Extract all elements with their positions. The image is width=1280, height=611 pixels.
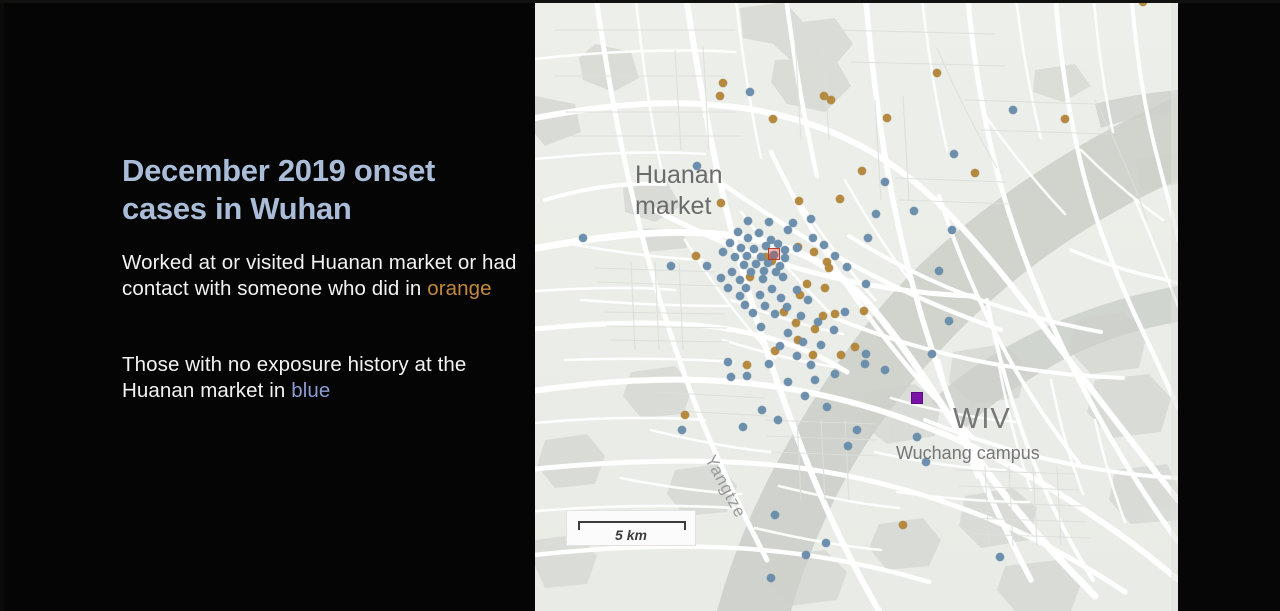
- case-dot-blue: [774, 416, 783, 425]
- slide-root: December 2019 onset cases in Wuhan Worke…: [0, 0, 1280, 611]
- case-dot-orange: [860, 307, 869, 316]
- case-dot-blue: [823, 403, 832, 412]
- case-dot-blue: [910, 207, 919, 216]
- case-dot-orange: [681, 411, 690, 420]
- case-dot-blue: [781, 254, 790, 263]
- wiv-marker[interactable]: [911, 392, 923, 404]
- case-dot-blue: [807, 361, 816, 370]
- case-dot-blue: [724, 284, 733, 293]
- case-dot-orange: [883, 114, 892, 123]
- case-dot-blue: [727, 373, 736, 382]
- map-label-huanan-market: Huanan market: [635, 160, 723, 222]
- case-dot-blue: [678, 426, 687, 435]
- text-panel: December 2019 onset cases in Wuhan Worke…: [0, 0, 535, 611]
- case-dot-orange: [803, 280, 812, 289]
- case-dot-blue: [797, 312, 806, 321]
- case-dot-blue: [864, 234, 873, 243]
- case-dot-blue: [759, 275, 768, 284]
- case-dot-orange: [716, 92, 725, 101]
- map-label-wiv: WIV: [953, 403, 1011, 436]
- case-dot-blue: [784, 329, 793, 338]
- case-dot-orange: [795, 197, 804, 206]
- case-dot-blue: [771, 511, 780, 520]
- case-dot-blue: [757, 323, 766, 332]
- case-dot-blue: [817, 341, 826, 350]
- case-dot-blue: [913, 433, 922, 442]
- case-dot-blue: [830, 326, 839, 335]
- case-dot-blue: [945, 317, 954, 326]
- case-dot-orange: [933, 69, 942, 78]
- case-dot-blue: [843, 263, 852, 272]
- case-dot-blue: [724, 358, 733, 367]
- case-dot-blue: [784, 378, 793, 387]
- scale-bar-label: 5 km: [567, 527, 695, 543]
- case-dot-blue: [862, 280, 871, 289]
- case-dot-blue: [746, 88, 755, 97]
- case-dot-orange: [851, 343, 860, 352]
- case-dot-blue: [749, 309, 758, 318]
- case-dot-blue: [756, 291, 765, 300]
- case-dot-blue: [948, 226, 957, 235]
- case-dot-blue: [928, 350, 937, 359]
- case-dot-blue: [750, 245, 759, 254]
- case-dot-blue: [809, 234, 818, 243]
- case-dot-blue: [731, 253, 740, 262]
- case-dot-blue: [831, 370, 840, 379]
- case-dot-orange: [692, 252, 701, 261]
- case-dot-blue: [841, 308, 850, 317]
- left-letterbox: [0, 0, 4, 611]
- case-dot-blue: [765, 360, 774, 369]
- huanan-market-marker[interactable]: [768, 248, 780, 260]
- case-dot-blue: [881, 366, 890, 375]
- page-title: December 2019 onset cases in Wuhan: [122, 152, 522, 228]
- case-dot-blue: [771, 310, 780, 319]
- case-dot-blue: [950, 150, 959, 159]
- right-letterbox: [1178, 0, 1280, 611]
- case-dot-blue: [717, 274, 726, 283]
- case-dot-orange: [809, 351, 818, 360]
- case-dot-orange: [836, 195, 845, 204]
- map-label-huanan-line2: market: [635, 191, 723, 222]
- case-dot-blue: [777, 294, 786, 303]
- case-dot-blue: [741, 301, 750, 310]
- case-dot-blue: [793, 352, 802, 361]
- case-dot-orange: [837, 351, 846, 360]
- case-dot-blue: [747, 268, 756, 277]
- legend-paragraph-blue: Those with no exposure history at the Hu…: [122, 352, 532, 403]
- case-dot-blue: [783, 303, 792, 312]
- case-dot-blue: [767, 574, 776, 583]
- map-scale-bar: 5 km: [566, 510, 696, 546]
- case-dot-orange: [827, 96, 836, 105]
- case-dot-blue: [853, 426, 862, 435]
- case-dot-blue: [776, 342, 785, 351]
- map-label-huanan-line1: Huanan: [635, 160, 723, 191]
- case-dot-blue: [781, 246, 790, 255]
- legend-blue-keyword: blue: [291, 379, 330, 402]
- case-dot-orange: [1061, 115, 1070, 124]
- case-dot-blue: [743, 252, 752, 261]
- case-dot-orange: [743, 361, 752, 370]
- case-dot-blue: [719, 248, 728, 257]
- case-dot-blue: [831, 252, 840, 261]
- case-dot-blue: [760, 267, 769, 276]
- case-dot-orange: [792, 319, 801, 328]
- case-dot-orange: [831, 310, 840, 319]
- map-panel[interactable]: Huanan market WIV Wuchang campus Yangtze…: [535, 0, 1178, 611]
- case-dot-blue: [784, 226, 793, 235]
- case-dot-blue: [761, 302, 770, 311]
- case-dot-orange: [769, 115, 778, 124]
- case-dot-blue: [779, 273, 788, 282]
- legend-orange-keyword: orange: [427, 277, 491, 300]
- case-dot-orange: [810, 248, 819, 257]
- case-dot-blue: [737, 244, 746, 253]
- case-dot-blue: [1009, 106, 1018, 115]
- case-dot-blue: [799, 338, 808, 347]
- case-dot-blue: [758, 406, 767, 415]
- case-dot-orange: [825, 264, 834, 273]
- case-dot-blue: [765, 218, 774, 227]
- case-dot-blue: [726, 239, 735, 248]
- case-dot-blue: [814, 318, 823, 327]
- case-dot-blue: [801, 392, 810, 401]
- case-dot-blue: [844, 442, 853, 451]
- case-dot-blue: [739, 423, 748, 432]
- case-dot-blue: [822, 539, 831, 548]
- case-dot-blue: [789, 219, 798, 228]
- case-dot-blue: [861, 360, 870, 369]
- case-dot-blue: [736, 292, 745, 301]
- case-dot-blue: [743, 372, 752, 381]
- case-dot-blue: [736, 276, 745, 285]
- case-dot-blue: [755, 229, 764, 238]
- case-dot-blue: [807, 215, 816, 224]
- case-dot-blue: [881, 178, 890, 187]
- case-dot-orange: [811, 325, 820, 334]
- case-dot-blue: [740, 261, 749, 270]
- top-letterbox: [0, 0, 1280, 3]
- case-dot-blue: [768, 285, 777, 294]
- map-label-wiv-campus: Wuchang campus: [896, 443, 1040, 464]
- case-dot-blue: [996, 553, 1005, 562]
- legend-paragraph-orange: Worked at or visited Huanan market or ha…: [122, 250, 532, 301]
- case-dot-orange: [899, 521, 908, 530]
- case-dot-blue: [802, 551, 811, 560]
- case-dot-orange: [719, 79, 728, 88]
- case-dot-blue: [579, 234, 588, 243]
- case-dot-blue: [862, 350, 871, 359]
- case-dot-blue: [793, 244, 802, 253]
- case-dot-blue: [742, 284, 751, 293]
- case-dot-blue: [935, 267, 944, 276]
- case-dot-orange: [858, 167, 867, 176]
- case-dot-orange: [821, 284, 830, 293]
- case-dot-blue: [744, 217, 753, 226]
- case-dot-blue: [744, 234, 753, 243]
- case-dot-blue: [734, 228, 743, 237]
- case-dot-blue: [764, 259, 773, 268]
- case-dot-blue: [728, 268, 737, 277]
- case-dot-blue: [752, 260, 761, 269]
- case-dot-blue: [820, 241, 829, 250]
- case-dot-blue: [667, 262, 676, 271]
- case-dot-blue: [872, 210, 881, 219]
- case-dot-blue: [811, 376, 820, 385]
- case-dot-blue: [703, 262, 712, 271]
- case-dot-orange: [971, 169, 980, 178]
- case-dot-blue: [804, 296, 813, 305]
